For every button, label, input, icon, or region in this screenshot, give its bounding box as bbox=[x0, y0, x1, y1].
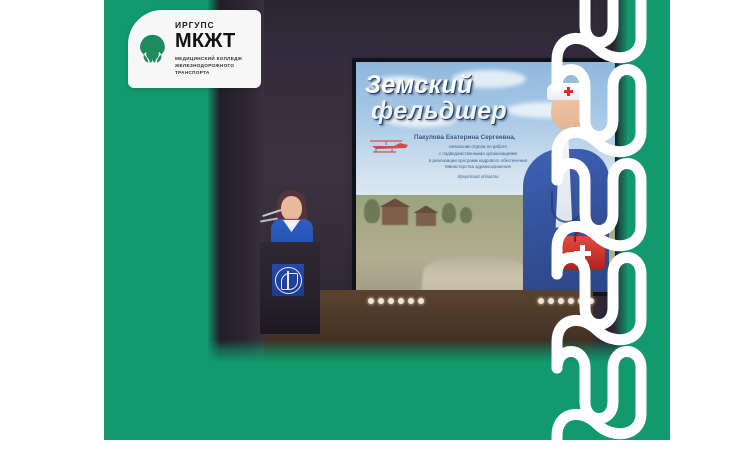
photo-fade-bottom bbox=[208, 340, 627, 362]
stethoscope-icon bbox=[551, 191, 583, 223]
news-card: Земский фельдшер Пакулова Екатерина Серг… bbox=[0, 0, 750, 450]
village-house bbox=[416, 211, 436, 226]
stage-lamp bbox=[538, 298, 544, 304]
presentation-slide: Земский фельдшер Пакулова Екатерина Серг… bbox=[356, 62, 615, 292]
stage-lamp bbox=[548, 298, 554, 304]
helicopter-icon bbox=[368, 137, 412, 153]
stage-lamp bbox=[418, 298, 424, 304]
village-house bbox=[382, 205, 408, 225]
stage-lamp bbox=[558, 298, 564, 304]
logo-subtitle: МЕДИЦИНСКИЙ КОЛЛЕДЖ ЖЕЛЕЗНОДОРОЖНОГО ТРА… bbox=[175, 55, 242, 77]
stage-lamp bbox=[578, 298, 584, 304]
medical-emblem-icon bbox=[272, 264, 304, 296]
stage-lamp bbox=[388, 298, 394, 304]
photo-inner: Земский фельдшер Пакулова Екатерина Серг… bbox=[208, 0, 627, 362]
brand-logo-card: ИРГУПС МКЖТ МЕДИЦИНСКИЙ КОЛЛЕДЖ ЖЕЛЕЗНОД… bbox=[128, 10, 261, 88]
emblem-snake bbox=[281, 273, 298, 290]
house-roof bbox=[379, 198, 411, 207]
photo-fade-right bbox=[613, 0, 627, 362]
logo-subtitle-line: МЕДИЦИНСКИЙ КОЛЛЕДЖ bbox=[175, 55, 242, 62]
logo-main-line: МКЖТ bbox=[175, 31, 242, 51]
stage-lamp-row bbox=[538, 298, 594, 304]
red-cross-icon bbox=[564, 87, 573, 96]
tree-shape bbox=[460, 207, 472, 223]
projection-screen: Земский фельдшер Пакулова Екатерина Серг… bbox=[356, 62, 615, 292]
emblem-ring bbox=[275, 267, 302, 294]
stage-lamp bbox=[568, 298, 574, 304]
stage-lamp bbox=[398, 298, 404, 304]
logo-top-line: ИРГУПС bbox=[175, 21, 242, 30]
stage-lamp-row bbox=[368, 298, 424, 304]
bag-handle bbox=[574, 230, 596, 242]
logo-text-block: ИРГУПС МКЖТ МЕДИЦИНСКИЙ КОЛЛЕДЖ ЖЕЛЕЗНОД… bbox=[175, 21, 242, 77]
event-photo: Земский фельдшер Пакулова Екатерина Серг… bbox=[208, 0, 627, 362]
medical-bag-icon bbox=[561, 236, 605, 270]
logo-subtitle-line: ТРАНСПОРТА bbox=[175, 69, 242, 76]
white-cross-icon bbox=[574, 245, 591, 262]
stage-lamp bbox=[408, 298, 414, 304]
tree-shape bbox=[364, 199, 380, 223]
tree-shape bbox=[442, 203, 456, 223]
stage-lamp bbox=[588, 298, 594, 304]
stage-lamp bbox=[368, 298, 374, 304]
leaf-emblem-icon bbox=[137, 34, 168, 65]
stage-lamp bbox=[378, 298, 384, 304]
house-roof bbox=[413, 205, 439, 213]
podium bbox=[260, 242, 320, 334]
logo-subtitle-line: ЖЕЛЕЗНОДОРОЖНОГО bbox=[175, 62, 242, 69]
